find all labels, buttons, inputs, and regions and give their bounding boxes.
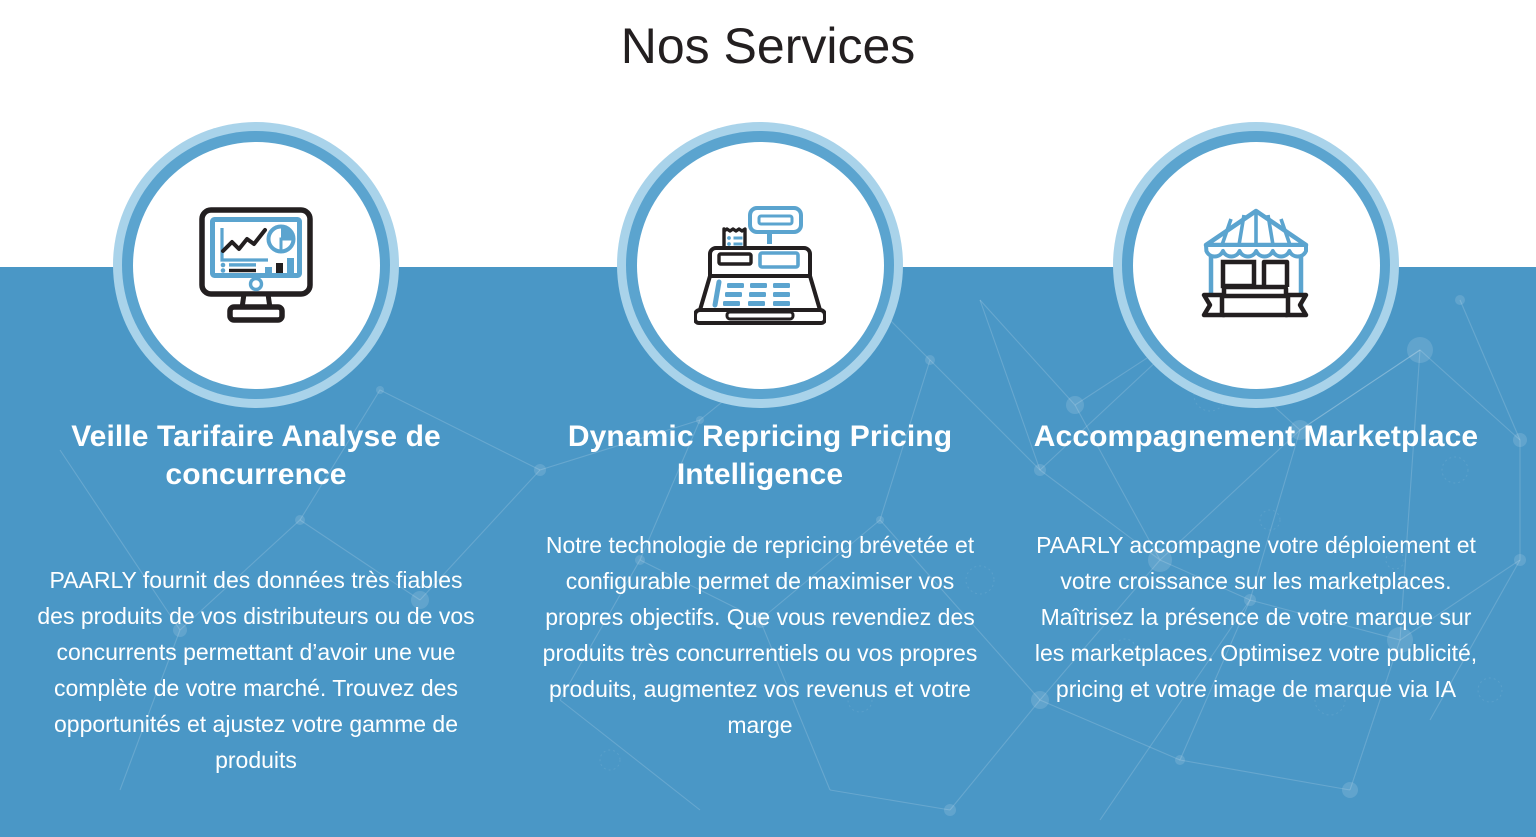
monitor-dashboard-icon xyxy=(192,206,320,324)
badge-core xyxy=(637,142,884,389)
service-heading: Veille Tarifaire Analyse de concurrence xyxy=(26,418,486,494)
service-description: Notre technologie de repricing brévetée … xyxy=(536,527,984,743)
cash-register-icon xyxy=(694,204,826,326)
badge-inner-ring xyxy=(122,131,390,399)
service-card-dynamic-repricing: Dynamic Repricing Pricing Intelligence N… xyxy=(512,0,1008,837)
services-section: Nos Services xyxy=(0,0,1536,837)
service-icon-badge xyxy=(1113,122,1399,408)
badge-core xyxy=(133,142,380,389)
services-columns: Veille Tarifaire Analyse de concurrence … xyxy=(0,0,1536,837)
service-icon-badge xyxy=(113,122,399,408)
service-card-veille-tarifaire: Veille Tarifaire Analyse de concurrence … xyxy=(8,0,504,837)
service-card-accompagnement-marketplace: Accompagnement Marketplace PAARLY accomp… xyxy=(1008,0,1504,837)
badge-inner-ring xyxy=(1122,131,1390,399)
badge-core xyxy=(1133,142,1380,389)
service-icon-badge xyxy=(617,122,903,408)
storefront-icon xyxy=(1194,207,1318,323)
service-heading: Dynamic Repricing Pricing Intelligence xyxy=(530,418,990,494)
service-heading: Accompagnement Marketplace xyxy=(1026,418,1486,456)
service-description: PAARLY fournit des données très fiables … xyxy=(32,562,480,778)
badge-inner-ring xyxy=(626,131,894,399)
service-description: PAARLY accompagne votre déploiement et v… xyxy=(1032,527,1480,707)
